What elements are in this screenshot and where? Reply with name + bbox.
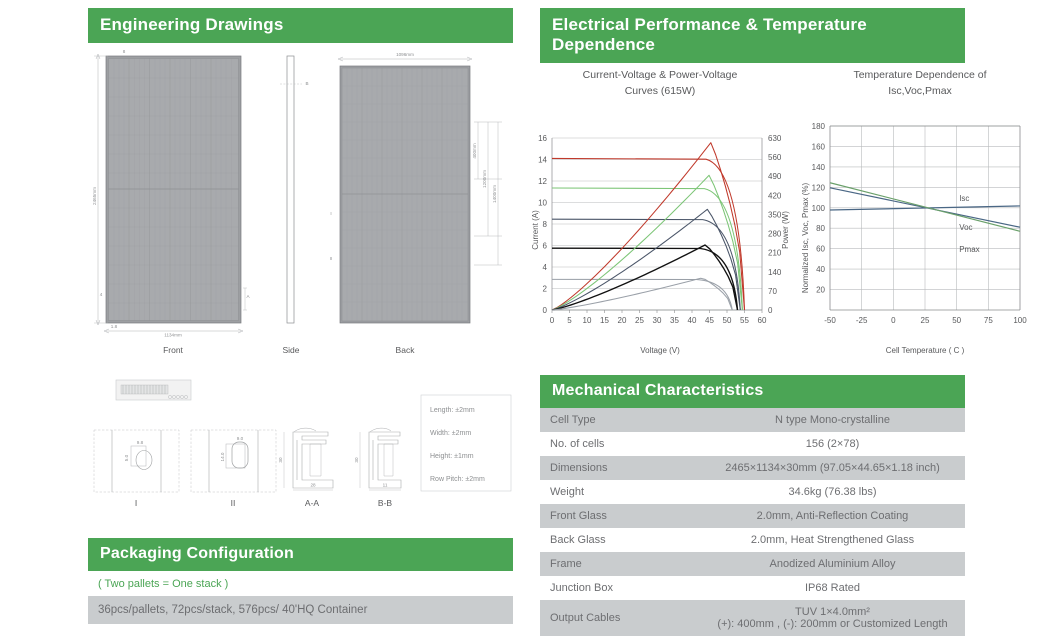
table-row: Cell TypeN type Mono-crystalline	[540, 408, 965, 432]
engineering-drawings-header: Engineering Drawings	[88, 8, 513, 43]
side-view-label: Side	[282, 345, 299, 355]
back-width-dim: 1096mm	[396, 52, 414, 57]
electrical-charts-canvas: Current-Voltage & Power-Voltage Curves (…	[520, 48, 1050, 368]
chart-legend-isc: Isc	[959, 194, 969, 203]
temp-xaxis-label: Cell Temperature ( C )	[886, 346, 965, 355]
temp-chart-subtitle: Isc,Voc,Pmax	[888, 85, 952, 97]
frame-bb-label: B-B	[378, 498, 393, 508]
front-top-tick-dim: 8	[123, 49, 126, 54]
iv-xtick: 60	[758, 316, 767, 325]
mechanical-characteristics-table: Cell TypeN type Mono-crystallineNo. of c…	[540, 408, 965, 636]
tolerance-box: Length: ±2mm Width: ±2mm Height: ±1mm Ro…	[421, 395, 511, 491]
frame-bb-width-dim: 11	[383, 483, 388, 488]
junction-box-drawing	[116, 380, 191, 400]
back-dim-1200: 1200mm	[482, 170, 487, 188]
spec-value: 2.0mm, Heat Strengthened Glass	[700, 528, 965, 552]
chart-series-line	[552, 209, 740, 310]
cutout-i-label: I	[135, 498, 137, 508]
table-row: Junction BoxIP68 Rated	[540, 576, 965, 600]
iv-xtick: 40	[688, 316, 697, 325]
iv-xtick: 50	[723, 316, 732, 325]
temp-yaxis-label: Normalized Isc, Voc, Pmax (%)	[801, 183, 810, 294]
iv-xtick: 10	[583, 316, 592, 325]
iv-y2tick: 420	[768, 191, 782, 200]
temp-ytick: 40	[816, 265, 825, 274]
side-view-drawing: B Side	[280, 56, 309, 355]
iv-y2tick: 560	[768, 153, 782, 162]
iv-ytick: 16	[538, 134, 547, 143]
section-mark-ii: II	[330, 256, 333, 261]
iv-ytick: 6	[543, 242, 548, 251]
temp-ytick: 20	[816, 286, 825, 295]
tolerance-height: Height: ±1mm	[430, 453, 474, 460]
engineering-drawings-canvas: 2465mm 1134mm 1.8 8 4 A Front B Side	[88, 48, 513, 533]
spec-key: Cell Type	[540, 408, 700, 432]
front-view-drawing: 2465mm 1134mm 1.8 8 4 A Front	[92, 49, 250, 355]
iv-xtick: 55	[740, 316, 749, 325]
iv-y2tick: 210	[768, 249, 782, 258]
iv-xtick: 45	[705, 316, 714, 325]
spec-key: Dimensions	[540, 456, 700, 480]
iv-xtick: 5	[567, 316, 572, 325]
spec-key: Front Glass	[540, 504, 700, 528]
iv-ytick: 10	[538, 199, 547, 208]
back-dim-400: 400mm	[472, 143, 477, 158]
front-width-dim: 1134mm	[164, 333, 182, 338]
spec-value: Anodized Aluminium Alloy	[700, 552, 965, 576]
spec-key: Junction Box	[540, 576, 700, 600]
table-row: Dimensions2465×1134×30mm (97.05×44.65×1.…	[540, 456, 965, 480]
temperature-dependence-chart: Temperature Dependence of Isc,Voc,Pmax 2…	[801, 69, 1027, 355]
spec-key: Back Glass	[540, 528, 700, 552]
front-height-dim: 2465mm	[92, 187, 97, 205]
iv-y2tick: 490	[768, 172, 782, 181]
iv-xtick: 0	[550, 316, 555, 325]
spec-value: 34.6kg (76.38 lbs)	[700, 480, 965, 504]
front-side-tick-dim: 4	[100, 292, 103, 297]
table-row: No. of cells156 (2×78)	[540, 432, 965, 456]
temp-ytick: 80	[816, 224, 825, 233]
chart-series-line	[552, 245, 738, 310]
frame-aa-label: A-A	[305, 498, 320, 508]
temp-xtick: 0	[891, 316, 896, 325]
section-mark-i: I	[330, 211, 331, 216]
cutout-ii-height-dim: 14.0	[220, 452, 225, 461]
chart-legend-voc: Voc	[959, 223, 972, 232]
iv-ytick: 8	[543, 220, 548, 229]
back-dim-1400: 1400mm	[492, 185, 497, 203]
table-row: Weight34.6kg (76.38 lbs)	[540, 480, 965, 504]
cutout-section-i: 9.8 5.0 I	[94, 430, 179, 508]
iv-y2tick: 140	[768, 268, 782, 277]
iv-curve-chart: Current-Voltage & Power-Voltage Curves (…	[531, 69, 790, 355]
temp-ytick: 140	[812, 163, 826, 172]
iv-ytick: 14	[538, 156, 547, 165]
iv-y2tick: 350	[768, 210, 782, 219]
spec-value: 2465×1134×30mm (97.05×44.65×1.18 inch)	[700, 456, 965, 480]
frame-aa-width-dim: 28	[310, 483, 316, 488]
front-right-tick-dim: A	[246, 294, 250, 299]
iv-chart-title: Current-Voltage & Power-Voltage	[583, 69, 738, 81]
temp-xtick: 25	[921, 316, 930, 325]
spec-value: 156 (2×78)	[700, 432, 965, 456]
temp-xtick: 100	[1013, 316, 1027, 325]
temp-chart-title: Temperature Dependence of	[853, 69, 986, 81]
iv-y2tick: 280	[768, 230, 782, 239]
temp-xtick: 75	[984, 316, 993, 325]
mechanical-characteristics-panel: Mechanical Characteristics Cell TypeN ty…	[540, 375, 965, 636]
frame-section-aa	[284, 428, 333, 490]
iv-ytick: 4	[543, 263, 548, 272]
frame-bb-height-dim: 30	[354, 457, 359, 463]
iv-xaxis-label: Voltage (V)	[640, 346, 680, 355]
front-edge-dim: 1.8	[111, 324, 118, 329]
iv-ytick: 0	[543, 306, 548, 315]
table-row: FrameAnodized Aluminium Alloy	[540, 552, 965, 576]
iv-y2tick: 630	[768, 134, 782, 143]
chart-series-line	[552, 219, 740, 310]
cutout-ii-label: II	[231, 498, 236, 508]
cutout-i-width-dim: 9.8	[137, 440, 144, 445]
spec-key: No. of cells	[540, 432, 700, 456]
temp-ytick: 60	[816, 245, 825, 254]
tolerance-width: Width: ±2mm	[430, 430, 471, 437]
tolerance-length: Length: ±2mm	[430, 407, 475, 414]
iv-xtick: 35	[670, 316, 679, 325]
iv-xtick: 25	[635, 316, 644, 325]
side-thickness-tick: B	[305, 81, 308, 86]
back-view-label: Back	[396, 345, 416, 355]
iv-xtick: 15	[600, 316, 609, 325]
temp-ytick: 100	[812, 204, 826, 213]
packaging-note: ( Two pallets = One stack )	[88, 571, 513, 596]
iv-ytick: 2	[543, 285, 548, 294]
iv-y2axis-label: Power (W)	[781, 211, 790, 249]
temp-xtick: -50	[824, 316, 836, 325]
cutout-section-ii: 9.0 14.0 II	[191, 430, 276, 508]
frame-aa-height-dim: 30	[278, 457, 283, 463]
back-view-drawing: 1096mm 400mm 1200mm 1400mm I II Back	[330, 52, 502, 355]
spec-value: 2.0mm, Anti-Reflection Coating	[700, 504, 965, 528]
temp-ytick: 180	[812, 122, 826, 131]
table-row: Front Glass2.0mm, Anti-Reflection Coatin…	[540, 504, 965, 528]
iv-y2tick: 0	[768, 306, 773, 315]
temp-ytick: 120	[812, 183, 826, 192]
iv-yaxis-label: Current (A)	[531, 210, 540, 250]
temp-xtick: -25	[856, 316, 868, 325]
packaging-value: 36pcs/pallets, 72pcs/stack, 576pcs/ 40'H…	[88, 596, 513, 624]
iv-xtick: 30	[653, 316, 662, 325]
cutout-i-height-dim: 5.0	[124, 454, 129, 461]
frame-section-bb	[360, 428, 401, 490]
packaging-configuration-panel: Packaging Configuration ( Two pallets = …	[88, 538, 513, 624]
iv-xtick: 20	[618, 316, 627, 325]
iv-chart-subtitle: Curves (615W)	[625, 85, 696, 97]
mechanical-characteristics-header: Mechanical Characteristics	[540, 375, 965, 408]
chart-legend-pmax: Pmax	[959, 245, 979, 254]
spec-value: IP68 Rated	[700, 576, 965, 600]
cutout-ii-width-dim: 9.0	[237, 436, 244, 441]
spec-key: Frame	[540, 552, 700, 576]
temp-xtick: 50	[952, 316, 961, 325]
temp-ytick: 160	[812, 142, 826, 151]
table-row: Back Glass2.0mm, Heat Strengthened Glass	[540, 528, 965, 552]
packaging-configuration-header: Packaging Configuration	[88, 538, 513, 571]
iv-ytick: 12	[538, 177, 547, 186]
spec-key: Weight	[540, 480, 700, 504]
iv-y2tick: 70	[768, 287, 777, 296]
spec-value: N type Mono-crystalline	[700, 408, 965, 432]
front-view-label: Front	[163, 345, 183, 355]
tolerance-row-pitch: Row Pitch: ±2mm	[430, 476, 485, 483]
